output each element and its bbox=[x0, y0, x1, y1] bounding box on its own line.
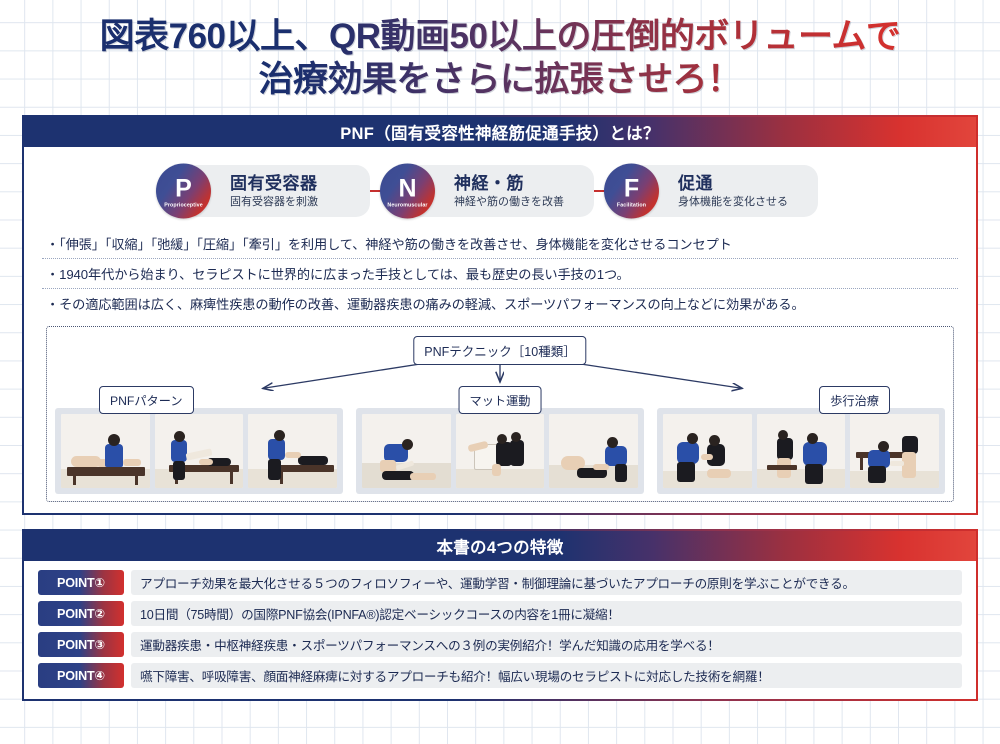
photo-thumbnail bbox=[61, 414, 150, 488]
n-texts: 神経・筋 神経や筋の働きを改善 bbox=[454, 174, 564, 209]
features-panel: 本書の4つの特徴 POINT① アプローチ効果を最大化させる５つのフィロソフィー… bbox=[22, 529, 978, 701]
p-circle-icon: P Proprioceptive bbox=[156, 164, 211, 219]
technique-diagram: PNFテクニック［10種類］ PNFパターン マット運動 歩行治療 bbox=[46, 326, 954, 502]
f-letter: F bbox=[624, 178, 639, 201]
f-texts: 促通 身体機能を変化させる bbox=[678, 174, 788, 209]
n-title: 神経・筋 bbox=[454, 174, 564, 194]
photo-group-pnf-pattern bbox=[55, 408, 343, 494]
f-circle-icon: F Facilitation bbox=[604, 164, 659, 219]
node-pnf-technique: PNFテクニック［10種類］ bbox=[413, 336, 586, 365]
node-gait-therapy: 歩行治療 bbox=[819, 386, 890, 414]
f-sublabel: Facilitation bbox=[617, 202, 646, 208]
photo-thumbnail bbox=[850, 414, 939, 488]
headline-line-2: 治療効果をさらに拡張させろ！ bbox=[0, 59, 1000, 102]
photo-group-mat-exercise bbox=[356, 408, 644, 494]
bullet-item: ・「伸張」「収縮」「弛緩」「圧縮」「牽引」を利用して、神経や筋の働きを改善させ、… bbox=[42, 229, 958, 259]
point-row: POINT② 10日間（75時間）の国際PNF協会(IPNFA®)認定ベーシック… bbox=[38, 601, 962, 626]
photo-thumbnail bbox=[757, 414, 846, 488]
point-row: POINT① アプローチ効果を最大化させる５つのフィロソフィーや、運動学習・制御… bbox=[38, 570, 962, 595]
bullet-item: ・その適応範囲は広く、麻痺性疾患の動作の改善、運動器疾患の痛みの軽減、スポーツパ… bbox=[42, 289, 958, 318]
n-sublabel: Neuromuscular bbox=[387, 202, 427, 208]
pnf-badge-proprioceptive: P Proprioceptive 固有受容器 固有受容器を刺激 bbox=[182, 165, 370, 217]
pnf-bullet-list: ・「伸張」「収縮」「弛緩」「圧縮」「牽引」を利用して、神経や筋の働きを改善させ、… bbox=[42, 229, 958, 318]
point-text-3: 運動器疾患・中枢神経疾患・スポーツパフォーマンスへの３例の実例紹介！学んだ知識の… bbox=[131, 632, 962, 657]
point-row: POINT③ 運動器疾患・中枢神経疾患・スポーツパフォーマンスへの３例の実例紹介… bbox=[38, 632, 962, 657]
n-desc: 神経や筋の働きを改善 bbox=[454, 196, 564, 209]
n-letter: N bbox=[398, 178, 416, 201]
photo-thumbnail bbox=[362, 414, 451, 488]
headline-line-1: 図表760以上、QR動画50以上の圧倒的ボリュームで bbox=[0, 16, 1000, 59]
pnf-panel-header: PNF（固有受容性神経筋促通手技）とは？ bbox=[24, 117, 976, 147]
photo-thumbnail bbox=[663, 414, 752, 488]
pnf-panel-body: P Proprioceptive 固有受容器 固有受容器を刺激 N Neurom… bbox=[24, 147, 976, 502]
pnf-panel: PNF（固有受容性神経筋促通手技）とは？ P Proprioceptive 固有… bbox=[22, 115, 978, 515]
pnf-badge-neuromuscular: N Neuromuscular 神経・筋 神経や筋の働きを改善 bbox=[406, 165, 594, 217]
pnf-badge-facilitation: F Facilitation 促通 身体機能を変化させる bbox=[630, 165, 818, 217]
photo-group-gait-therapy bbox=[657, 408, 945, 494]
f-desc: 身体機能を変化させる bbox=[678, 196, 788, 209]
photo-thumbnail bbox=[549, 414, 638, 488]
headline: 図表760以上、QR動画50以上の圧倒的ボリュームで 治療効果をさらに拡張させろ… bbox=[0, 0, 1000, 101]
point-badge-1: POINT① bbox=[38, 570, 124, 595]
point-text-2: 10日間（75時間）の国際PNF協会(IPNFA®)認定ベーシックコースの内容を… bbox=[131, 601, 962, 626]
point-text-1: アプローチ効果を最大化させる５つのフィロソフィーや、運動学習・制御理論に基づいた… bbox=[131, 570, 962, 595]
point-badge-3: POINT③ bbox=[38, 632, 124, 657]
node-mat-exercise: マット運動 bbox=[459, 386, 542, 414]
p-sublabel: Proprioceptive bbox=[164, 202, 203, 208]
p-texts: 固有受容器 固有受容器を刺激 bbox=[230, 174, 318, 209]
photo-thumbnail bbox=[456, 414, 545, 488]
point-badge-2: POINT② bbox=[38, 601, 124, 626]
point-badge-4: POINT④ bbox=[38, 663, 124, 688]
node-pnf-pattern: PNFパターン bbox=[99, 386, 194, 414]
features-panel-body: POINT① アプローチ効果を最大化させる５つのフィロソフィーや、運動学習・制御… bbox=[24, 561, 976, 696]
n-circle-icon: N Neuromuscular bbox=[380, 164, 435, 219]
p-letter: P bbox=[175, 178, 192, 201]
pnf-badge-row: P Proprioceptive 固有受容器 固有受容器を刺激 N Neurom… bbox=[36, 165, 964, 217]
p-title: 固有受容器 bbox=[230, 174, 318, 194]
point-row: POINT④ 嚥下障害、呼吸障害、顔面神経麻痺に対するアプローチも紹介！幅広い現… bbox=[38, 663, 962, 688]
p-desc: 固有受容器を刺激 bbox=[230, 196, 318, 209]
bullet-item: ・1940年代から始まり、セラピストに世界的に広まった手技としては、最も歴史の長… bbox=[42, 259, 958, 289]
f-title: 促通 bbox=[678, 174, 788, 194]
features-panel-header: 本書の4つの特徴 bbox=[24, 531, 976, 561]
photo-groups bbox=[55, 408, 945, 494]
photo-thumbnail bbox=[248, 414, 337, 488]
photo-thumbnail bbox=[155, 414, 244, 488]
point-text-4: 嚥下障害、呼吸障害、顔面神経麻痺に対するアプローチも紹介！幅広い現場のセラピスト… bbox=[131, 663, 962, 688]
